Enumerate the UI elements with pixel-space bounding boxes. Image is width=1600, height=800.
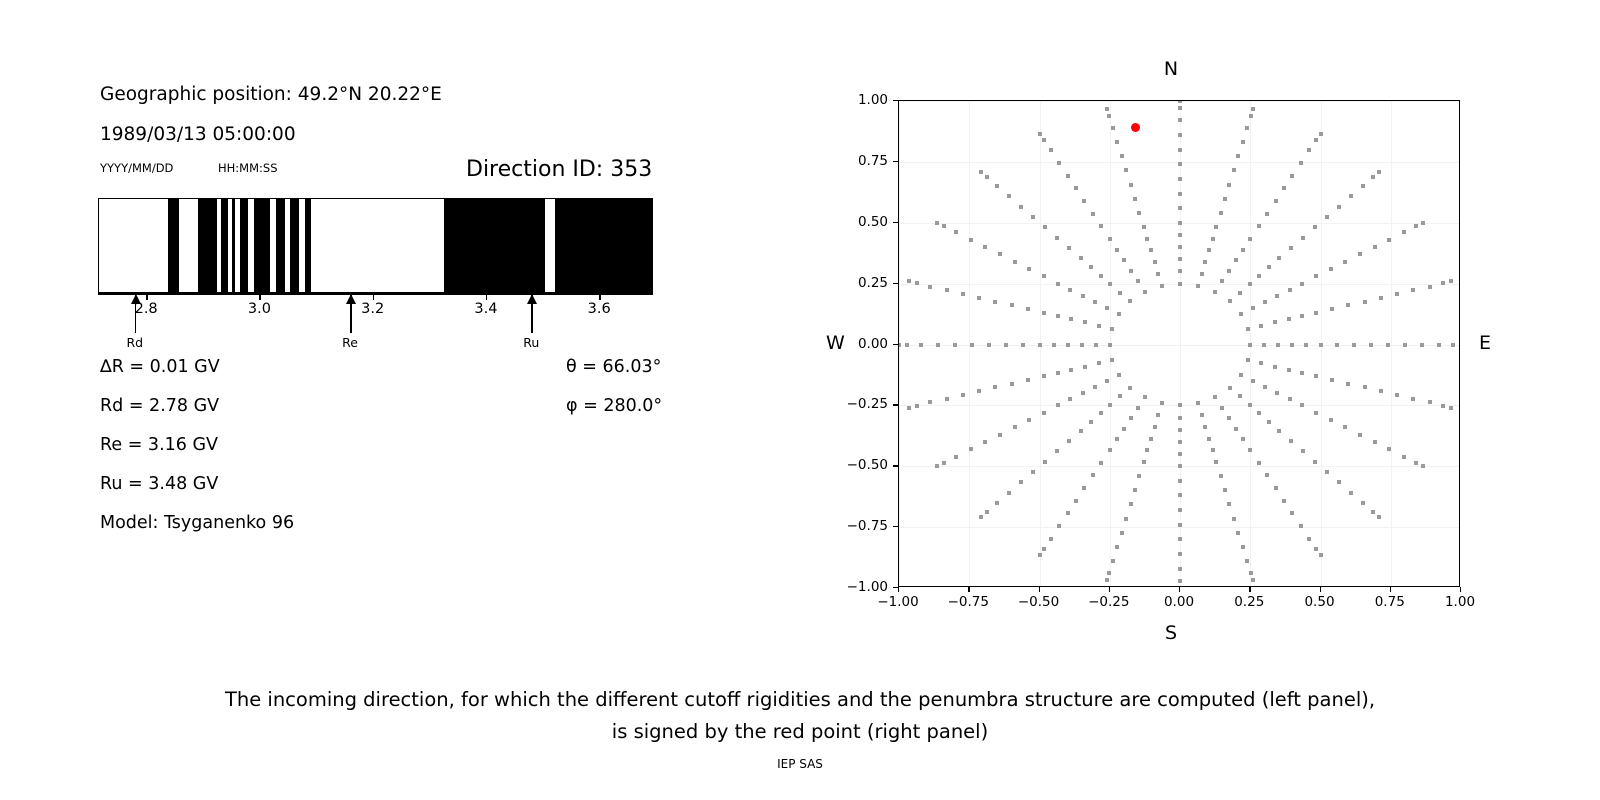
y-axis-tick-label: 1.00 [830,92,888,108]
x-axis-tick-label: 0.25 [1234,594,1264,610]
x-axis-tick [1320,587,1321,592]
y-axis-tick [893,465,898,466]
figure-caption: The incoming direction, for which the di… [0,684,1600,748]
y-axis-tick [893,344,898,345]
parameter-list-angles: θ = 66.03°φ = 280.0° [0,0,800,660]
x-axis-tick-label: −0.25 [1088,594,1129,610]
y-axis-tick-label: −0.75 [830,518,888,534]
caption-line-2: is signed by the red point (right panel) [0,716,1600,748]
y-axis-tick [893,404,898,405]
x-axis-tick [968,587,969,592]
x-axis-tick [1179,587,1180,592]
y-axis-tick-label: 0.75 [830,153,888,169]
y-axis-tick [893,100,898,101]
caption-line-1: The incoming direction, for which the di… [0,684,1600,716]
right-panel: −1.00−0.75−0.50−0.250.000.250.500.751.00… [800,0,1600,660]
y-axis-tick [893,526,898,527]
y-axis-tick-label: −1.00 [830,579,888,595]
x-axis-tick [1249,587,1250,592]
direction-scatter-axes: −1.00−0.75−0.50−0.250.000.250.500.751.00… [800,0,1600,660]
x-axis-tick-label: 0.75 [1375,594,1405,610]
x-axis-tick-label: −0.50 [1018,594,1059,610]
compass-label-west: W [826,332,845,354]
x-axis-tick [1460,587,1461,592]
y-axis-tick-label: 0.50 [830,214,888,230]
compass-label-east: E [1479,332,1491,354]
compass-label-north: N [1164,58,1178,80]
left-panel: Geographic position: 49.2°N 20.22°E 1989… [0,0,800,660]
y-axis-tick-label: 0.25 [830,275,888,291]
x-axis-tick-label: 1.00 [1445,594,1475,610]
y-axis-tick-label: −0.50 [830,457,888,473]
y-axis-tick [893,283,898,284]
angle-parameter-row: φ = 280.0° [566,396,662,416]
x-axis-tick-label: 0.50 [1304,594,1334,610]
footer-attribution: IEP SAS [0,757,1600,771]
x-axis-tick-label: −1.00 [877,594,918,610]
x-axis-tick-label: −0.75 [948,594,989,610]
x-axis-tick [898,587,899,592]
y-axis-tick [893,222,898,223]
y-axis-tick [893,161,898,162]
y-axis-tick-label: −0.25 [830,396,888,412]
compass-label-south: S [1165,622,1177,644]
x-axis-tick [1390,587,1391,592]
x-axis-tick [1109,587,1110,592]
x-axis-tick-label: 0.00 [1164,594,1194,610]
x-axis-tick [1039,587,1040,592]
angle-parameter-row: θ = 66.03° [566,357,661,377]
